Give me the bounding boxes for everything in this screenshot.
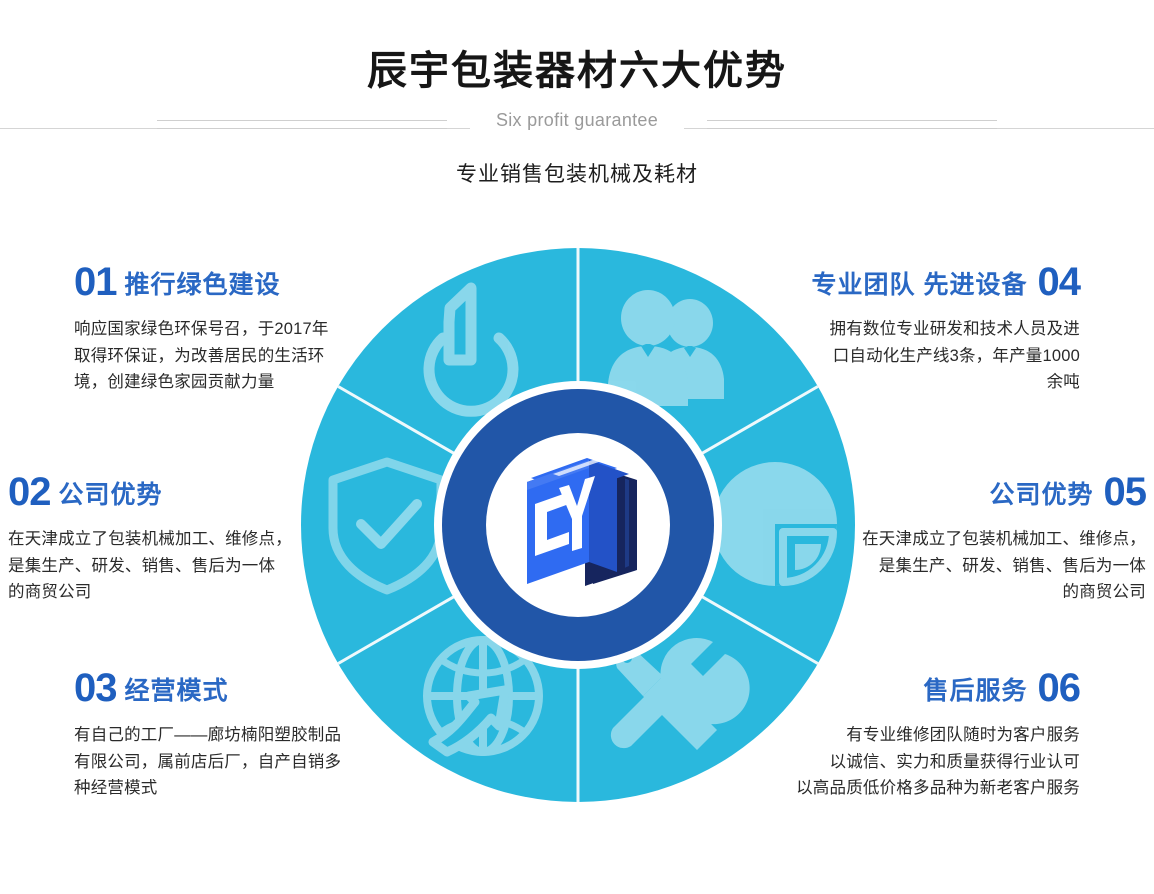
page-title: 辰宇包装器材六大优势: [0, 38, 1154, 96]
feature-02-number: 02: [8, 470, 51, 514]
feature-06-number: 06: [1038, 666, 1081, 710]
feature-02-heading: 02公司优势: [8, 472, 308, 512]
feature-block-04: 专业团队 先进设备04 拥有数位专业研发和技术人员及进 口自动化生产线3条，年产…: [780, 262, 1080, 396]
feature-01-body: 响应国家绿色环保号召，于2017年 取得环保证，为改善居民的生活环 境，创建绿色…: [74, 316, 374, 396]
feature-06-body: 有专业维修团队随时为客户服务 以诚信、实力和质量获得行业认可 以高品质低价格多品…: [760, 722, 1080, 802]
feature-04-number: 04: [1038, 260, 1081, 304]
feature-block-02: 02公司优势 在天津成立了包装机械加工、维修点， 是集生产、研发、销售、售后为一…: [8, 472, 308, 606]
feature-01-number: 01: [74, 260, 117, 304]
feature-02-line-1: 在天津成立了包装机械加工、维修点，: [8, 526, 308, 553]
feature-01-line-1: 响应国家绿色环保号召，于2017年: [74, 316, 374, 343]
feature-01-line-3: 境，创建绿色家园贡献力量: [74, 369, 374, 396]
header-section: 辰宇包装器材六大优势 Six profit guarantee 专业销售包装机械…: [0, 0, 1154, 210]
feature-01-line-2: 取得环保证，为改善居民的生活环: [74, 343, 374, 370]
feature-06-heading: 售后服务06: [760, 668, 1080, 708]
feature-06-line-1: 有专业维修团队随时为客户服务: [760, 722, 1080, 749]
feature-04-line-2: 口自动化生产线3条，年产量1000: [780, 343, 1080, 370]
feature-04-heading: 专业团队 先进设备04: [780, 262, 1080, 302]
subtitle-english-text: Six profit guarantee: [470, 110, 684, 130]
feature-04-title: 专业团队 先进设备: [812, 271, 1028, 299]
feature-block-06: 售后服务06 有专业维修团队随时为客户服务 以诚信、实力和质量获得行业认可 以高…: [760, 668, 1080, 802]
feature-04-line-3: 余吨: [780, 369, 1080, 396]
feature-03-line-2: 有限公司，属前店后厂，自产自销多: [74, 749, 394, 776]
feature-05-title: 公司优势: [989, 481, 1093, 509]
feature-02-line-3: 的商贸公司: [8, 579, 308, 606]
feature-04-line-1: 拥有数位专业研发和技术人员及进: [780, 316, 1080, 343]
subtitle-english: Six profit guarantee: [0, 110, 1154, 131]
feature-03-body: 有自己的工厂——廊坊楠阳塑胶制品 有限公司，属前店后厂，自产自销多 种经营模式: [74, 722, 394, 802]
feature-05-heading: 公司优势05: [841, 472, 1146, 512]
feature-01-heading: 01推行绿色建设: [74, 262, 374, 302]
feature-05-body: 在天津成立了包装机械加工、维修点， 是集生产、研发、销售、售后为一体 的商贸公司: [841, 526, 1146, 606]
center-hub-inner: [486, 433, 670, 617]
feature-05-line-2: 是集生产、研发、销售、售后为一体: [841, 553, 1146, 580]
feature-block-03: 03经营模式 有自己的工厂——廊坊楠阳塑胶制品 有限公司，属前店后厂，自产自销多…: [74, 668, 394, 802]
feature-06-line-2: 以诚信、实力和质量获得行业认可: [760, 749, 1080, 776]
feature-block-05: 公司优势05 在天津成立了包装机械加工、维修点， 是集生产、研发、销售、售后为一…: [841, 472, 1146, 606]
feature-03-heading: 03经营模式: [74, 668, 394, 708]
feature-03-line-3: 种经营模式: [74, 775, 394, 802]
feature-05-line-1: 在天津成立了包装机械加工、维修点，: [841, 526, 1146, 553]
feature-02-body: 在天津成立了包装机械加工、维修点， 是集生产、研发、销售、售后为一体 的商贸公司: [8, 526, 308, 606]
feature-02-title: 公司优势: [59, 481, 163, 509]
feature-06-line-3: 以高品质低价格多品种为新老客户服务: [760, 775, 1080, 802]
feature-03-line-1: 有自己的工厂——廊坊楠阳塑胶制品: [74, 722, 394, 749]
feature-04-body: 拥有数位专业研发和技术人员及进 口自动化生产线3条，年产量1000 余吨: [780, 316, 1080, 396]
feature-06-title: 售后服务: [923, 677, 1027, 705]
feature-03-title: 经营模式: [125, 677, 229, 705]
feature-block-01: 01推行绿色建设 响应国家绿色环保号召，于2017年 取得环保证，为改善居民的生…: [74, 262, 374, 396]
feature-02-line-2: 是集生产、研发、销售、售后为一体: [8, 553, 308, 580]
feature-03-number: 03: [74, 666, 117, 710]
feature-01-title: 推行绿色建设: [125, 271, 281, 299]
feature-05-number: 05: [1104, 470, 1147, 514]
feature-05-line-3: 的商贸公司: [841, 579, 1146, 606]
subtitle-chinese: 专业销售包装机械及耗材: [0, 158, 1154, 188]
pie-chart-icon: [713, 462, 837, 586]
